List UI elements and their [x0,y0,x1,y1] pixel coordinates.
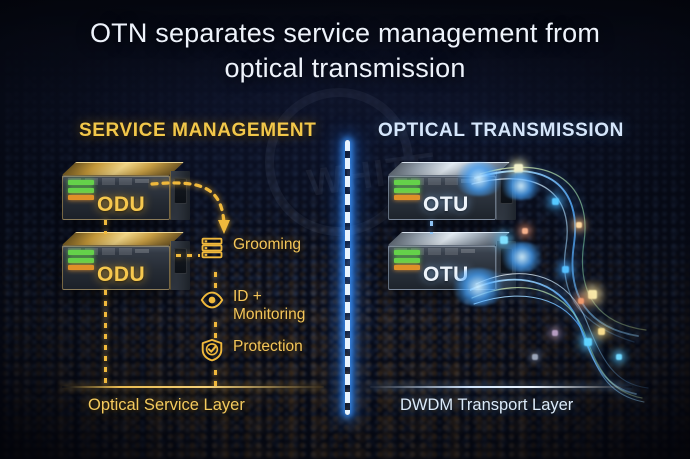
feature-label: Protection [233,338,303,356]
led-orange-1 [68,265,94,270]
device-led-panel [68,180,94,203]
feature-label: Grooming [233,236,301,254]
fiber-spark [588,290,597,299]
eye-monitoring-icon [200,288,224,312]
shield-check-icon [200,338,224,362]
infographic-canvas: WHITE OTN separates service management f… [0,0,690,459]
fiber-spark [522,228,528,234]
fiber-spark [562,266,569,273]
transport-layer-rule [370,386,632,388]
led-green-1 [394,250,420,255]
service-layer-caption: Optical Service Layer [88,396,245,415]
device-chassis-front: OTU [388,175,496,220]
transport-layer-caption: DWDM Transport Layer [400,396,573,415]
led-green-2 [394,258,420,263]
fiber-spark [598,328,605,335]
device-led-panel [394,180,420,203]
fiber-spark [576,222,582,228]
fiber-spark [584,338,592,346]
monitoring-to-protection-dots [214,322,217,338]
led-green-2 [68,258,94,263]
led-green-1 [68,250,94,255]
led-green-2 [68,188,94,193]
device-otu-1[interactable]: OTU [388,162,516,220]
odu-to-grooming-dots [176,254,200,257]
feature-id-monitoring[interactable]: ID + Monitoring [200,288,305,324]
device-name-plate [135,179,149,183]
otu1-downlink-dots [430,221,433,234]
device-chassis-top [388,232,510,245]
feature-protection[interactable]: Protection [200,338,303,362]
protection-downlink-dots [214,370,217,386]
odu2-downlink-dots [104,290,107,386]
device-name-plate [461,179,475,183]
grooming-stack-icon [200,236,224,260]
device-otu-2[interactable]: OTU [388,232,516,290]
led-green-1 [394,180,420,185]
led-orange-1 [394,265,420,270]
fiber-spark [578,298,584,304]
service-layer-rule [62,386,324,388]
fiber-spark [552,330,558,336]
device-chassis-top [388,162,510,175]
device-label: OTU [423,263,469,287]
feature-label: ID + Monitoring [233,288,305,324]
title-line-2: optical transmission [0,51,690,86]
column-header-optical-transmission: OPTICAL TRANSMISSION [378,120,624,142]
page-title: OTN separates service management from op… [0,16,690,86]
odu1-downlink-dots [104,220,107,234]
fiber-spark [532,354,538,360]
otu2-port-glow [498,242,546,272]
column-header-service-management: SERVICE MANAGEMENT [79,120,316,142]
led-green-1 [68,180,94,185]
led-orange-1 [68,195,94,200]
device-led-panel [394,250,420,273]
led-green-2 [394,188,420,193]
otu1-port-glow [498,172,544,200]
device-chassis-top [62,162,184,175]
led-orange-1 [394,195,420,200]
fiber-spark [616,354,622,360]
device-name-plate [461,249,475,253]
device-led-panel [68,250,94,273]
center-divider [345,140,350,415]
device-name-plate [135,249,149,253]
feature-grooming[interactable]: Grooming [200,236,301,260]
device-label: ODU [97,193,145,217]
device-label: ODU [97,263,145,287]
title-line-1: OTN separates service management from [0,16,690,51]
device-label: OTU [423,193,469,217]
device-chassis-front: OTU [388,245,496,290]
device-port [174,248,187,274]
fiber-spark [552,198,559,205]
device-chassis-front: ODU [62,245,170,290]
